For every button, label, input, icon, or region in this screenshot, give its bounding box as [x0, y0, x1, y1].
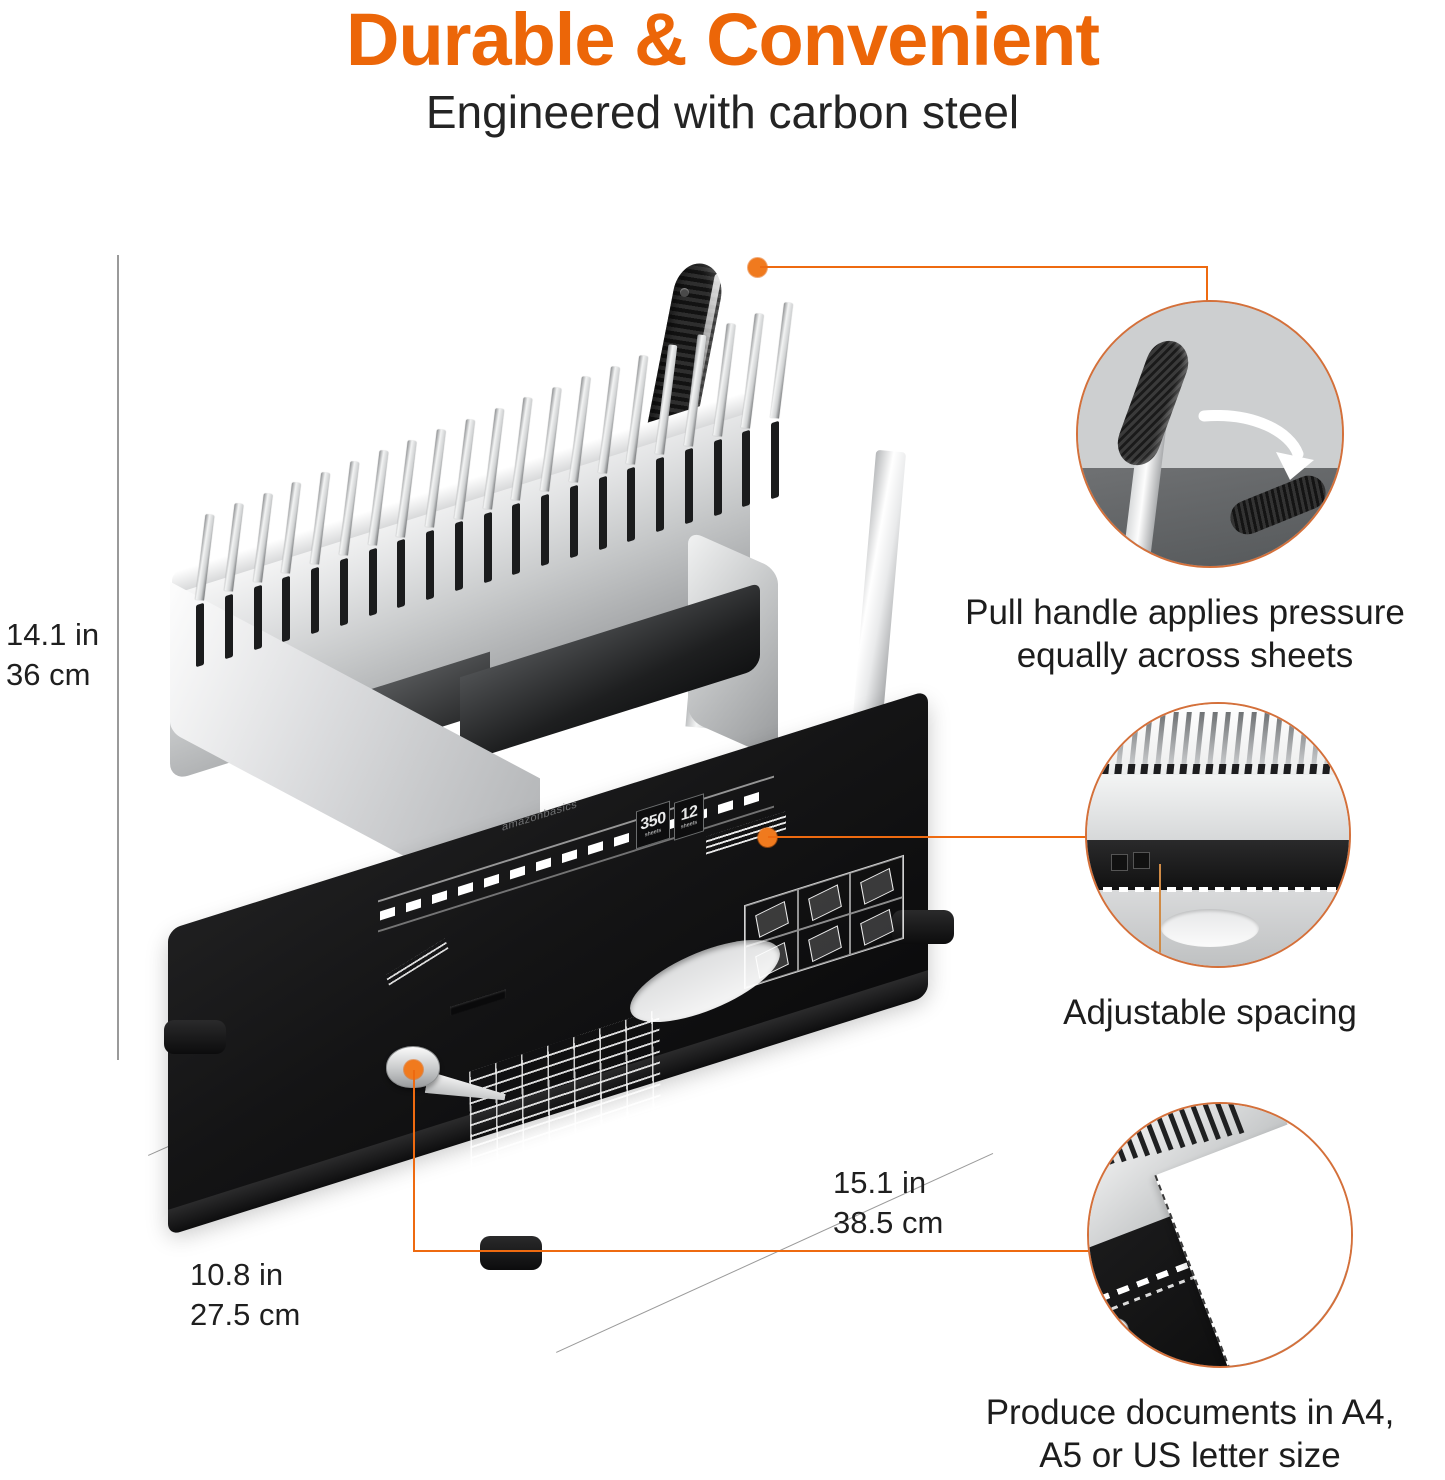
- callout1-caption-line1: Pull handle applies pressure: [925, 592, 1445, 635]
- connector-line-2-horizontal: [768, 836, 1088, 838]
- comb-tooth-slot: [484, 512, 492, 584]
- comb-tooth: [770, 302, 793, 418]
- comb-tooth-slot: [570, 484, 578, 558]
- comb-tooth-slot: [254, 585, 262, 651]
- comb-tooth-slot: [685, 448, 693, 524]
- comb-tooth-slot: [541, 494, 549, 567]
- comb-tooth-slot: [771, 421, 779, 500]
- callout2-comb-tooth: [1272, 712, 1283, 766]
- foot-left: [164, 1020, 226, 1054]
- comb-tooth-slot: [196, 603, 204, 668]
- callout2-comb-tooth: [1259, 712, 1270, 766]
- comb-tooth-slot: [512, 503, 520, 575]
- motion-arrow-icon: [1198, 410, 1318, 480]
- callout2-comb-tooth: [1220, 712, 1231, 766]
- comb-tooth-slot: [397, 539, 405, 608]
- callout2-badge-1: [1111, 854, 1128, 871]
- callout2-comb-tooth: [1116, 712, 1127, 766]
- comb-tooth-slot: [714, 439, 722, 516]
- comb-tooth-slot: [742, 430, 750, 508]
- callout2-comb-tooth: [1324, 712, 1335, 766]
- connector-line-3-horizontal: [413, 1250, 1101, 1252]
- comb-tooth-slot: [225, 594, 233, 659]
- callout2-finger-slot: [1161, 909, 1259, 947]
- comb-tooth-slot: [426, 530, 434, 600]
- callout2-comb-tooth: [1129, 712, 1140, 766]
- callout2-comb-tooth: [1233, 712, 1244, 766]
- comb-teeth-row: [195, 600, 795, 610]
- connector-line-1-horizontal: [760, 266, 1208, 268]
- callout-circle-paper-sizes: [1087, 1102, 1353, 1368]
- foot-front: [480, 1236, 542, 1270]
- callout2-comb-tooth: [1246, 712, 1257, 766]
- dimension-height-inches: 14.1 in: [6, 615, 99, 655]
- product-illustration: 350 sheets 12 sheets amazonbasics: [150, 250, 980, 1280]
- callout1-caption-line2: equally across sheets: [925, 635, 1445, 678]
- callout2-comb-tooth: [1311, 712, 1322, 766]
- callout-caption-adjustable-spacing: Adjustable spacing: [950, 992, 1445, 1035]
- comb-tooth-slot: [311, 566, 319, 633]
- callout3-caption-line2: A5 or US letter size: [930, 1435, 1445, 1478]
- callout2-comb-tooth: [1155, 712, 1166, 766]
- grip-screw-top: [680, 288, 689, 297]
- callout2-comb-tooth: [1103, 712, 1114, 766]
- callout3-caption-line1: Produce documents in A4,: [930, 1392, 1445, 1435]
- callout2-caption-line1: Adjustable spacing: [950, 992, 1445, 1035]
- comb-tooth-slot: [599, 475, 607, 549]
- callout-caption-paper-sizes: Produce documents in A4, A5 or US letter…: [930, 1392, 1445, 1477]
- header-block: Durable & Convenient Engineered with car…: [0, 0, 1445, 138]
- comb-tooth-slot: [627, 466, 635, 541]
- callout2-comb-teeth: [1087, 712, 1349, 774]
- callout2-comb-tooth: [1298, 712, 1309, 766]
- comb-tooth-slot: [455, 521, 463, 592]
- callout2-spacing-divider: [1159, 864, 1161, 968]
- page-title: Durable & Convenient: [0, 0, 1445, 77]
- dimension-depth-cm: 27.5 cm: [190, 1295, 300, 1335]
- comb-tooth-slot: [656, 457, 664, 533]
- callout2-comb-tooth: [1285, 712, 1296, 766]
- comb-tooth-slot: [369, 548, 377, 617]
- callout2-comb-tooth: [1337, 712, 1348, 766]
- callout3-knob: [1103, 1318, 1129, 1344]
- dimension-height: 14.1 in 36 cm: [6, 615, 99, 694]
- callout-circle-adjustable-spacing: [1085, 702, 1351, 968]
- callout2-comb-tooth: [1194, 712, 1205, 766]
- callout2-comb-tooth: [1142, 712, 1153, 766]
- callout2-comb-tooth: [1207, 712, 1218, 766]
- page-subtitle: Engineered with carbon steel: [0, 77, 1445, 138]
- connector-line-3-vertical: [413, 1070, 415, 1252]
- callout2-comb-tooth: [1168, 712, 1179, 766]
- callout2-punch-guide-dashes: [1087, 887, 1349, 892]
- callout-circle-pull-handle: [1076, 300, 1344, 568]
- callout2-badge-2: [1133, 852, 1150, 869]
- callout-caption-pull-handle: Pull handle applies pressure equally acr…: [925, 592, 1445, 677]
- dimension-height-cm: 36 cm: [6, 655, 99, 695]
- comb-tooth-slot: [340, 557, 348, 625]
- comb-tooth-slot: [282, 575, 290, 642]
- comb-tooth: [741, 313, 764, 428]
- callout2-comb-tooth: [1090, 712, 1101, 766]
- callout2-body-silver: [1087, 775, 1349, 848]
- callout2-comb-tooth: [1181, 712, 1192, 766]
- height-guide-line: [117, 255, 119, 1060]
